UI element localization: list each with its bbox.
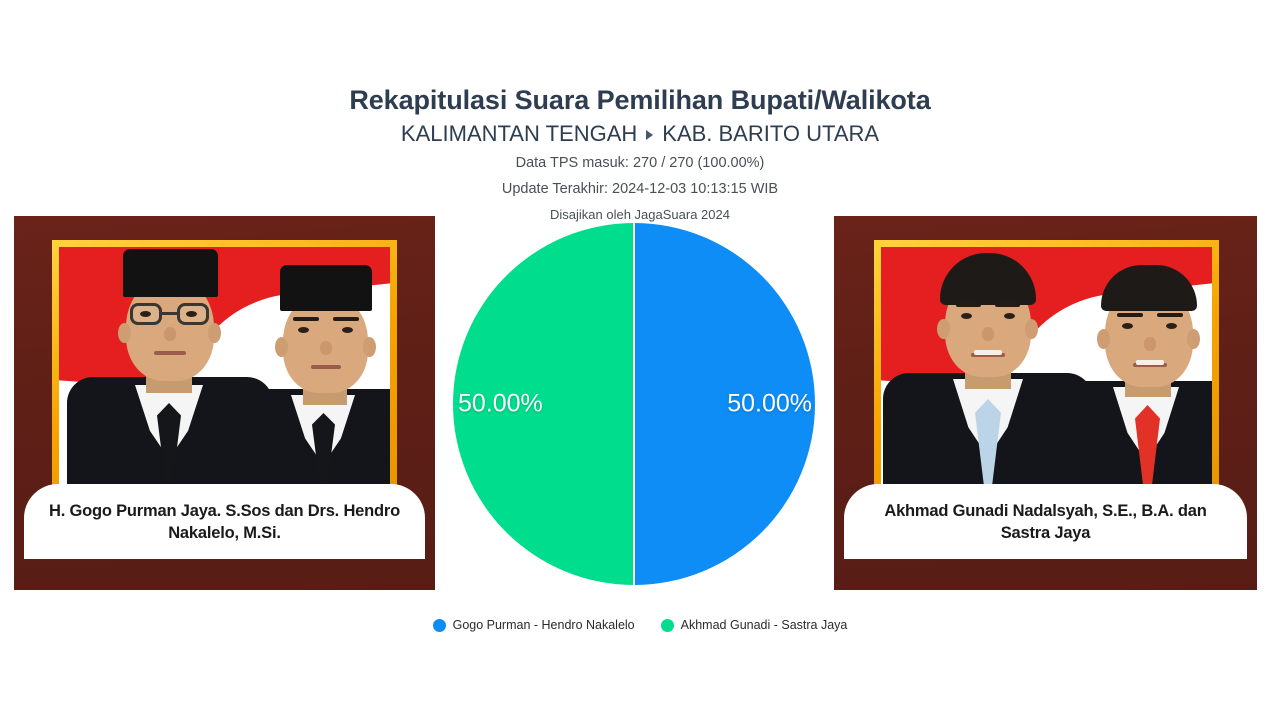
vote-pie-chart[interactable]: 50.00% 50.00% bbox=[453, 223, 815, 585]
candidate-photo-frame-2 bbox=[874, 240, 1219, 500]
candidate-name-2: Akhmad Gunadi Nadalsyah, S.E., B.A. dan … bbox=[858, 500, 1233, 544]
candidate-nameplate-1: H. Gogo Purman Jaya. S.Sos dan Drs. Hend… bbox=[24, 484, 425, 559]
tps-status: Data TPS masuk: 270 / 270 (100.00%) bbox=[0, 153, 1280, 174]
pie-label-candidate-1: 50.00% bbox=[727, 390, 812, 419]
page-root: Rekapitulasi Suara Pemilihan Bupati/Wali… bbox=[0, 0, 1280, 720]
candidate-nameplate-2: Akhmad Gunadi Nadalsyah, S.E., B.A. dan … bbox=[844, 484, 1247, 559]
chart-legend: Gogo Purman - Hendro Nakalelo Akhmad Gun… bbox=[0, 618, 1280, 632]
breadcrumb-regency: KAB. BARITO UTARA bbox=[662, 120, 879, 148]
candidate-photo-frame-1 bbox=[52, 240, 397, 500]
person-right bbox=[1051, 253, 1212, 493]
legend-label-candidate-1: Gogo Purman - Hendro Nakalelo bbox=[453, 618, 635, 632]
pie-label-candidate-2: 50.00% bbox=[458, 390, 543, 419]
last-update: Update Terakhir: 2024-12-03 10:13:15 WIB bbox=[0, 179, 1280, 200]
legend-item-candidate-2[interactable]: Akhmad Gunadi - Sastra Jaya bbox=[661, 618, 848, 632]
person-right bbox=[227, 259, 390, 493]
legend-dot-icon bbox=[433, 619, 446, 632]
breadcrumb-province: KALIMANTAN TENGAH bbox=[401, 120, 637, 148]
candidate-photo-1 bbox=[59, 247, 390, 493]
legend-dot-icon bbox=[661, 619, 674, 632]
candidate-card-1[interactable]: H. Gogo Purman Jaya. S.Sos dan Drs. Hend… bbox=[14, 216, 435, 590]
breadcrumb: KALIMANTAN TENGAH KAB. BARITO UTARA bbox=[0, 120, 1280, 148]
candidate-name-1: H. Gogo Purman Jaya. S.Sos dan Drs. Hend… bbox=[38, 500, 411, 544]
legend-label-candidate-2: Akhmad Gunadi - Sastra Jaya bbox=[681, 618, 848, 632]
header: Rekapitulasi Suara Pemilihan Bupati/Wali… bbox=[0, 84, 1280, 225]
caret-right-icon bbox=[646, 130, 653, 140]
page-title: Rekapitulasi Suara Pemilihan Bupati/Wali… bbox=[0, 84, 1280, 116]
candidate-photo-2 bbox=[881, 247, 1212, 493]
candidate-card-2[interactable]: Akhmad Gunadi Nadalsyah, S.E., B.A. dan … bbox=[834, 216, 1257, 590]
legend-item-candidate-1[interactable]: Gogo Purman - Hendro Nakalelo bbox=[433, 618, 635, 632]
pie-slice-divider bbox=[633, 223, 635, 585]
